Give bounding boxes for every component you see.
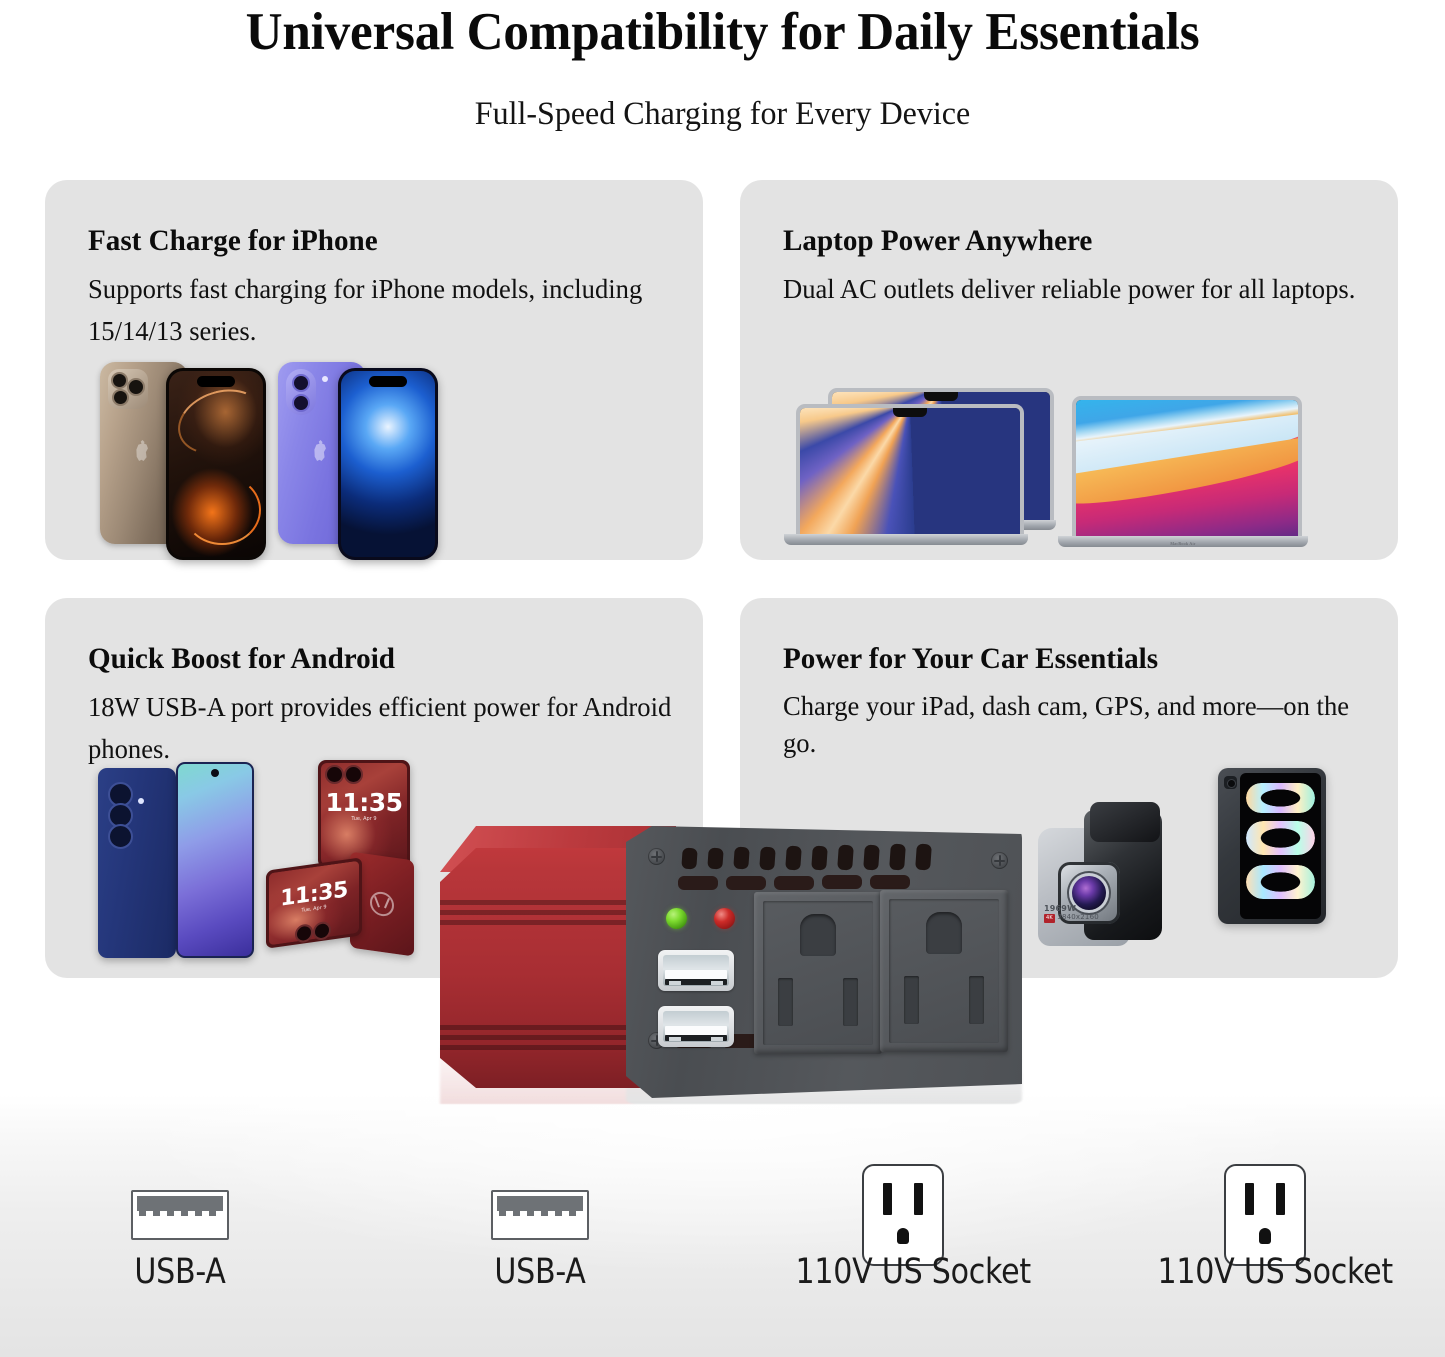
flash-icon [138, 798, 144, 804]
legend-item-usb-a-2: USB-A [420, 1178, 660, 1292]
dashcam-model: 1969W [1044, 904, 1099, 913]
laptop-model-label: MacBook Air [1170, 541, 1195, 546]
card-body: Charge your iPad, dash cam, GPS, and mor… [783, 688, 1374, 762]
fault-led-red [714, 908, 735, 929]
ac-outlet-2[interactable] [880, 890, 1008, 1052]
razr-open-display: 11:35 Tue, Apr 9 [266, 857, 362, 948]
card-heading: Fast Charge for iPhone [88, 224, 378, 258]
us-socket-icon [862, 1164, 944, 1266]
iphone-front-desert-titanium [166, 368, 266, 560]
laptop-base [784, 534, 1028, 545]
legend-label: USB-A [77, 1252, 283, 1292]
camera-module-icon [108, 369, 148, 409]
ipad-pro [1218, 768, 1326, 924]
card-body: Supports fast charging for iPhone models… [88, 268, 679, 352]
dynamic-island-icon [369, 376, 407, 387]
port-legend: USB-A USB-A 110V US Socket 110V US Socke… [0, 1178, 1445, 1318]
usb-a-port-1[interactable] [658, 950, 734, 991]
power-inverter-product [432, 826, 1032, 1111]
camera-module-icon [325, 765, 365, 781]
us-socket-icon [1224, 1164, 1306, 1266]
usb-a-icon [491, 1190, 589, 1240]
ipad-display [1240, 773, 1321, 919]
ac-outlet-1[interactable] [754, 892, 882, 1054]
power-led-green [666, 908, 687, 929]
iphone-front-ultramarine [338, 368, 438, 560]
dashcam-resolution-detail: 3840x2160 [1057, 913, 1099, 921]
usb-a-icon [131, 1190, 229, 1240]
card-heading: Power for Your Car Essentials [783, 642, 1158, 676]
legend-item-us-socket-1: 110V US Socket [778, 1178, 1028, 1292]
legend-label: USB-A [437, 1252, 643, 1292]
camera-module-icon [108, 782, 130, 844]
laptop-base: MacBook Air [1058, 536, 1308, 547]
dashcam-resolution-badge: 4K [1044, 914, 1055, 923]
dashcam-spec-text: 1969W 4K 3840x2160 [1044, 904, 1099, 923]
dash-cam: 1969W 4K 3840x2160 [1038, 800, 1168, 950]
wallpaper [800, 408, 1020, 538]
apple-logo-icon [134, 440, 151, 461]
wallpaper [341, 371, 435, 557]
camera-module-icon [1224, 776, 1237, 789]
galaxy-fold-back [98, 768, 176, 958]
infographic-canvas: Universal Compatibility for Daily Essent… [0, 0, 1445, 1357]
punch-hole-camera-icon [211, 769, 219, 777]
page-title: Universal Compatibility for Daily Essent… [25, 2, 1419, 62]
apple-logo-icon [312, 440, 329, 461]
dashcam-bracket [1090, 802, 1160, 842]
page-subtitle: Full-Speed Charging for Every Device [22, 96, 1424, 133]
camera-module-icon [286, 369, 316, 415]
clock-date: Tue, Apr 9 [318, 816, 410, 822]
wallpaper [178, 764, 252, 956]
card-body: Dual AC outlets deliver reliable power f… [783, 268, 1374, 310]
card-heading: Laptop Power Anywhere [783, 224, 1092, 258]
screw-icon [991, 852, 1008, 869]
dynamic-island-icon [197, 376, 235, 387]
notch-icon [924, 392, 958, 401]
card-body: 18W USB-A port provides efficient power … [88, 686, 679, 770]
clock-time: 11:35 [318, 788, 410, 817]
wallpaper [169, 371, 263, 557]
motorola-logo-icon [370, 890, 394, 917]
card-heading: Quick Boost for Android [88, 642, 395, 676]
razr-closed-cover: 11:35 Tue, Apr 9 [318, 760, 410, 868]
screw-icon [648, 848, 665, 865]
notch-icon [893, 408, 927, 417]
legend-label: 110V US Socket [1158, 1252, 1373, 1292]
legend-item-usb-a-1: USB-A [60, 1178, 300, 1292]
legend-item-us-socket-2: 110V US Socket [1140, 1178, 1390, 1292]
wallpaper [1076, 400, 1298, 540]
usb-a-port-2[interactable] [658, 1006, 734, 1047]
galaxy-fold-front [176, 762, 254, 958]
flash-icon [322, 376, 328, 382]
legend-label: 110V US Socket [796, 1252, 1011, 1292]
inverter-front-panel [626, 826, 1022, 1098]
